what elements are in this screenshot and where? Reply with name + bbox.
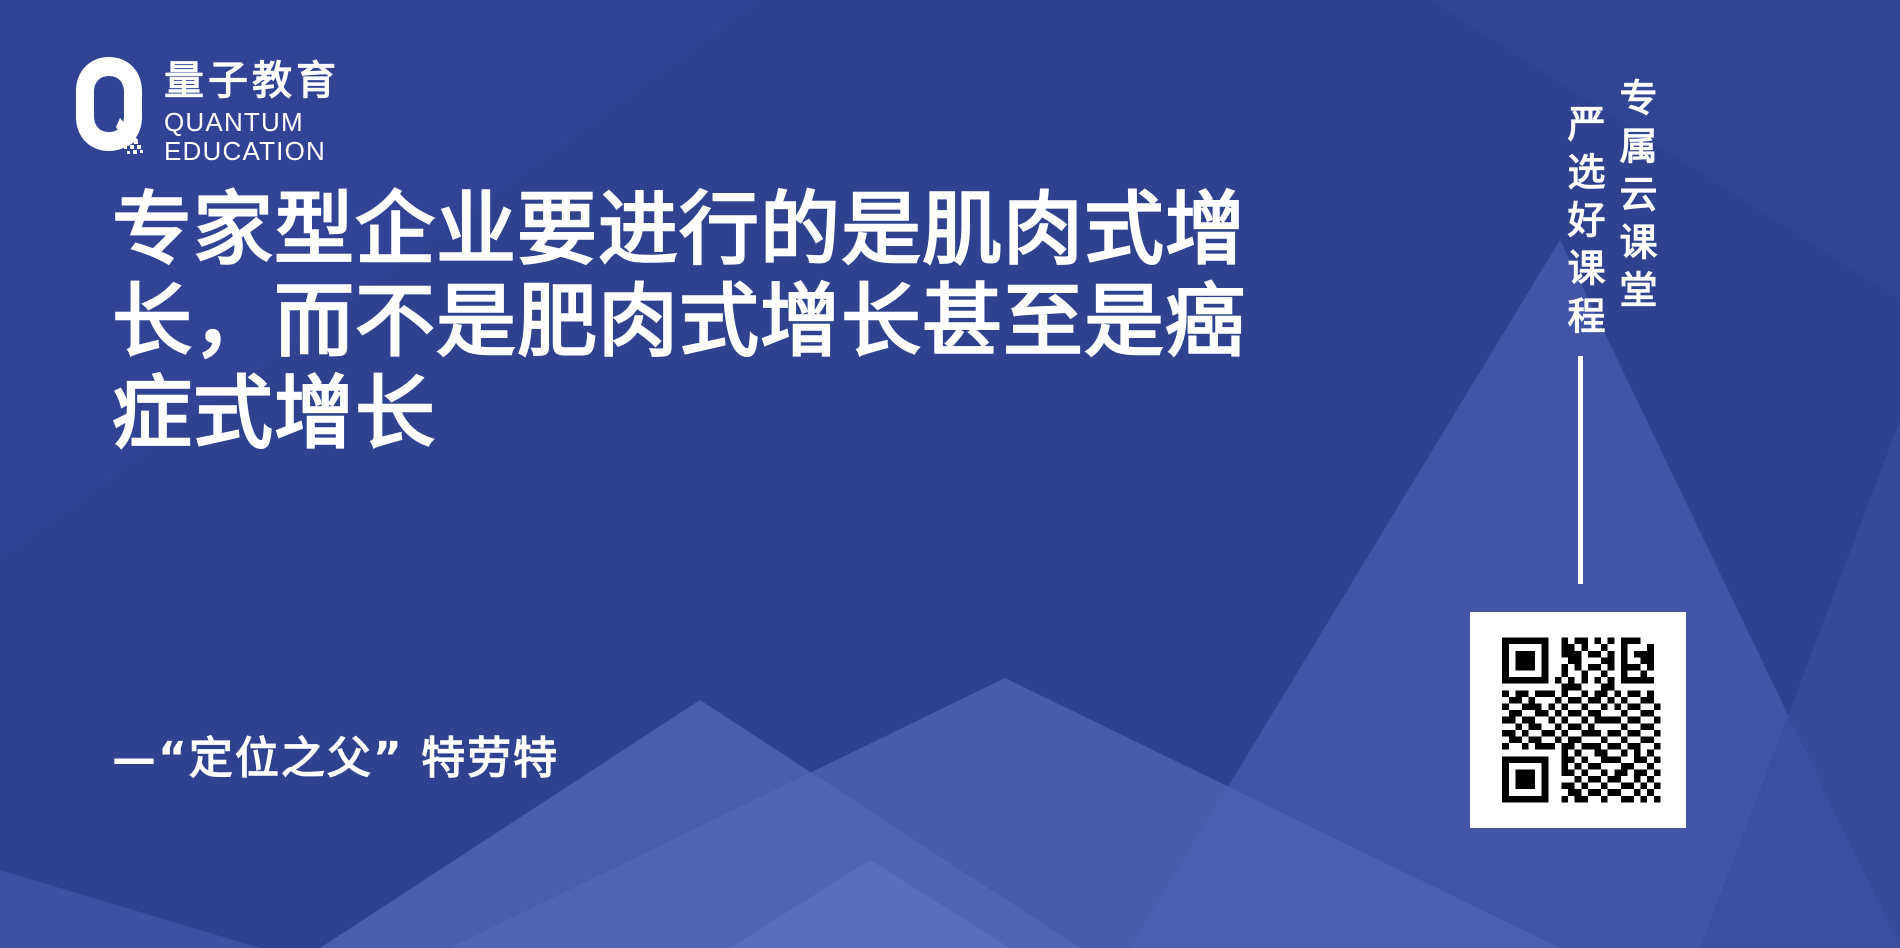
slogan-divider-rule (1578, 356, 1583, 584)
qr-code-icon (1489, 631, 1667, 809)
headline-line-2: 长，而不是肥肉式增长甚至是癌 (112, 282, 1232, 362)
brand-logo: 量子教育 QUANTUM EDUCATION (72, 52, 340, 166)
headline-line-1: 专家型企业要进行的是肌肉式增 (112, 190, 1232, 270)
quote-attribution: —“定位之父” 特劳特 (112, 722, 559, 786)
slogan-column-right: 专属云课堂 (1616, 78, 1654, 344)
headline-quote: 专家型企业要进行的是肌肉式增 长，而不是肥肉式增长甚至是癌 症式增长 (112, 190, 1232, 466)
brand-name-cn: 量子教育 (164, 60, 340, 102)
headline-line-3: 症式增长 (112, 374, 1232, 454)
qr-code-panel[interactable] (1470, 612, 1686, 828)
brand-name-en-line1: QUANTUM (164, 108, 340, 137)
brand-name-en-line2: EDUCATION (164, 137, 340, 166)
quantum-q-icon (72, 54, 146, 154)
vertical-slogan: 严选好课程 专属云课堂 (1564, 78, 1654, 344)
brand-wordmark: 量子教育 QUANTUM EDUCATION (164, 52, 340, 166)
quote-card: 量子教育 QUANTUM EDUCATION 专家型企业要进行的是肌肉式增 长，… (0, 0, 1900, 948)
slogan-column-left: 严选好课程 (1564, 78, 1602, 344)
